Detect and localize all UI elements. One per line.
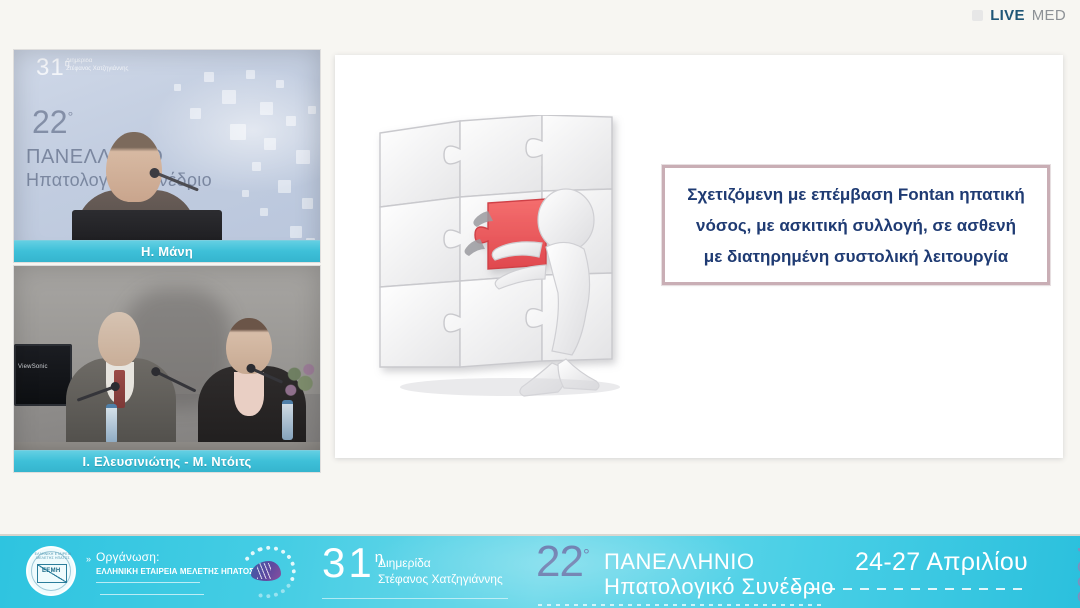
logo-mark-icon	[972, 10, 983, 21]
viewsonic-monitor: ViewSonic	[14, 344, 72, 406]
puzzle-svg	[360, 115, 660, 405]
brand-primary-text: LIVE	[990, 7, 1025, 24]
banner-congress-number: 22°	[536, 540, 589, 584]
video-feed-2[interactable]: ViewSonic	[14, 266, 320, 472]
presentation-slide[interactable]: Σχετιζόμενη με επέμβαση Fontan ηπατική ν…	[335, 55, 1063, 458]
banner-dates-dashes	[792, 588, 1028, 590]
monitor-brand-label: ViewSonic	[18, 364, 48, 370]
video-tile-speaker[interactable]: 31η Διημερίδα Στέφανος Χατζηγιάννης 22° …	[14, 50, 320, 262]
logo-acronym: ΕΕΜΗ	[42, 568, 61, 574]
brand-secondary-text: MED	[1032, 7, 1066, 24]
screen-root: LIVE MED	[0, 0, 1080, 608]
banner-year: 2024	[1074, 544, 1080, 604]
banner-edition-line2: Στέφανος Χατζηγιάννης	[378, 571, 503, 587]
panelist-2-shirt	[234, 372, 264, 416]
organizer-label: Οργάνωση:	[96, 550, 160, 564]
video-feed-1[interactable]: 31η Διημερίδα Στέφανος Χατζηγιάννης 22° …	[14, 50, 320, 262]
organizer-arrow-icon: »	[86, 554, 91, 564]
organizer-name: ΕΛΛΗΝΙΚΗ ΕΤΑΙΡΕΙΑ ΜΕΛΕΤΗΣ ΗΠΑΤΟΣ	[96, 567, 254, 576]
organizer-rule	[96, 582, 200, 583]
speaker-name-2: Ι. Ελευσινιώτης - Μ. Ντόιτς	[83, 454, 252, 469]
speaker-nameplate-1: Η. Μάνη	[14, 240, 320, 262]
organizer-rule	[100, 594, 204, 595]
slide-title-line-1: Σχετιζόμενη με επέμβαση Fontan ηπατική	[679, 179, 1033, 210]
panelist-1-head	[98, 312, 140, 366]
water-bottle	[106, 404, 117, 444]
conference-banner: ΕΛΛΗΝΙΚΗ ΕΤΑΙΡΕΙΑ ΜΕΛΕΤΗΣ ΗΠΑΤΟΣ ΕΕΜΗ » …	[0, 534, 1080, 608]
slide-title-line-3: με διατηρημένη συστολική λειτουργία	[679, 241, 1033, 272]
puzzle-illustration-icon	[360, 115, 660, 405]
logo-monogram: ΕΕΜΗ	[37, 564, 67, 583]
liver-logo-icon	[240, 546, 296, 598]
video-tile-panel[interactable]: ViewSonic Ι. Ελευσινιώτης - Μ. Ντόιτς	[14, 266, 320, 472]
eemh-society-logo-icon: ΕΛΛΗΝΙΚΗ ΕΤΑΙΡΕΙΑ ΜΕΛΕΤΗΣ ΗΠΑΤΟΣ ΕΕΜΗ	[26, 546, 76, 596]
banner-edition-line1: Διημερίδα	[378, 555, 503, 571]
speaker-nameplate-2: Ι. Ελευσινιώτης - Μ. Ντόιτς	[14, 450, 320, 472]
speaker-name-1: Η. Μάνη	[141, 244, 193, 259]
banner-congress-line2: Ηπατολογικό Συνέδριο	[604, 574, 834, 600]
livemed-logo: LIVE MED	[972, 7, 1066, 24]
backdrop-congress-number: 22°	[32, 106, 73, 138]
water-bottle	[282, 400, 293, 440]
liver-shape	[251, 561, 281, 581]
slide-title-line-2: νόσος, με ασκιτική συλλογή, σε ασθενή	[679, 210, 1033, 241]
banner-congress-line1: ΠΑΝΕΛΛΗΝΙΟ	[604, 549, 755, 575]
slide-title-box: Σχετιζόμενη με επέμβαση Fontan ηπατική ν…	[662, 165, 1050, 285]
banner-edition-subtitle: Διημερίδα Στέφανος Χατζηγιάννης	[378, 555, 503, 587]
logo-ring-text: ΕΛΛΗΝΙΚΗ ΕΤΑΙΡΕΙΑ ΜΕΛΕΤΗΣ ΗΠΑΤΟΣ	[34, 552, 72, 560]
banner-dates: 24-27 Απριλίου	[855, 548, 1028, 577]
backdrop-edition-subtitle: Διημερίδα Στέφανος Χατζηγιάννης	[66, 57, 128, 73]
banner-edition-rule	[322, 598, 508, 599]
banner-divider	[0, 534, 1080, 536]
banner-edition-number: 31η	[322, 542, 383, 584]
banner-congress-dots	[538, 604, 824, 606]
flower-arrangement	[280, 358, 316, 404]
